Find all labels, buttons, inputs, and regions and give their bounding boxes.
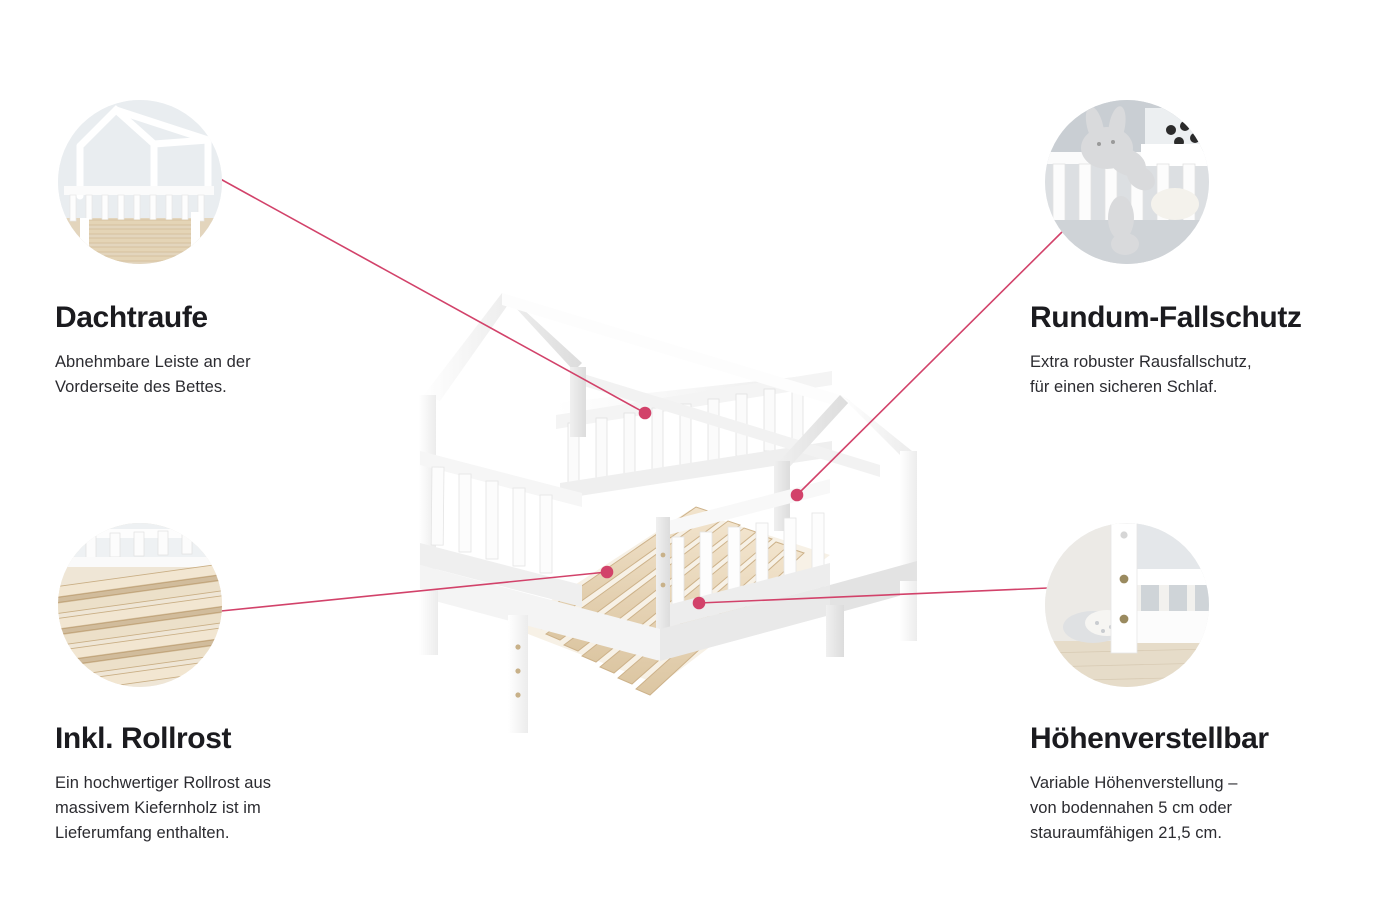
product-image-house-bed <box>360 255 920 755</box>
roof-frame <box>423 293 912 477</box>
feature-description: Variable Höhenverstellung – von bodennah… <box>1030 771 1370 846</box>
infographic-canvas: Dachtraufe Abnehmbare Leiste an der Vord… <box>0 0 1395 910</box>
desc-line: stauraumfähigen 21,5 cm. <box>1030 821 1370 846</box>
feature-dachtraufe: Dachtraufe Abnehmbare Leiste an der Vord… <box>55 100 385 400</box>
feature-inkl-rollrost: Inkl. Rollrost Ein hochwertiger Rollrost… <box>55 523 385 846</box>
desc-line: Variable Höhenverstellung – <box>1030 771 1370 796</box>
feature-description: Ein hochwertiger Rollrost aus massivem K… <box>55 771 385 846</box>
thumb-adjustable-bed-leg <box>1045 523 1209 687</box>
thumb-house-bed-roof-eave <box>58 100 222 264</box>
desc-line: Lieferumfang enthalten. <box>55 821 385 846</box>
desc-line: von bodennahen 5 cm oder <box>1030 796 1370 821</box>
desc-line: Extra robuster Rausfallschutz, <box>1030 350 1360 375</box>
desc-line: Ein hochwertiger Rollrost aus <box>55 771 385 796</box>
feature-description: Extra robuster Rausfallschutz, für einen… <box>1030 350 1360 400</box>
feature-headline: Rundum-Fallschutz <box>1030 302 1360 334</box>
thumb-pine-slatted-base <box>58 523 222 687</box>
feature-rundum-fallschutz: Rundum-Fallschutz Extra robuster Rausfal… <box>1030 100 1360 400</box>
desc-line: massivem Kiefernholz ist im <box>55 796 385 821</box>
thumb-plush-bunny-on-rail <box>1045 100 1209 264</box>
feature-headline: Inkl. Rollrost <box>55 723 385 755</box>
desc-line: Abnehmbare Leiste an der <box>55 350 385 375</box>
feature-description: Abnehmbare Leiste an der Vorderseite des… <box>55 350 385 400</box>
feature-headline: Höhenverstellbar <box>1030 723 1370 755</box>
feature-headline: Dachtraufe <box>55 302 385 334</box>
desc-line: Vorderseite des Bettes. <box>55 375 385 400</box>
feature-hoehenverstellbar: Höhenverstellbar Variable Höhenverstellu… <box>1030 523 1370 846</box>
desc-line: für einen sicheren Schlaf. <box>1030 375 1360 400</box>
